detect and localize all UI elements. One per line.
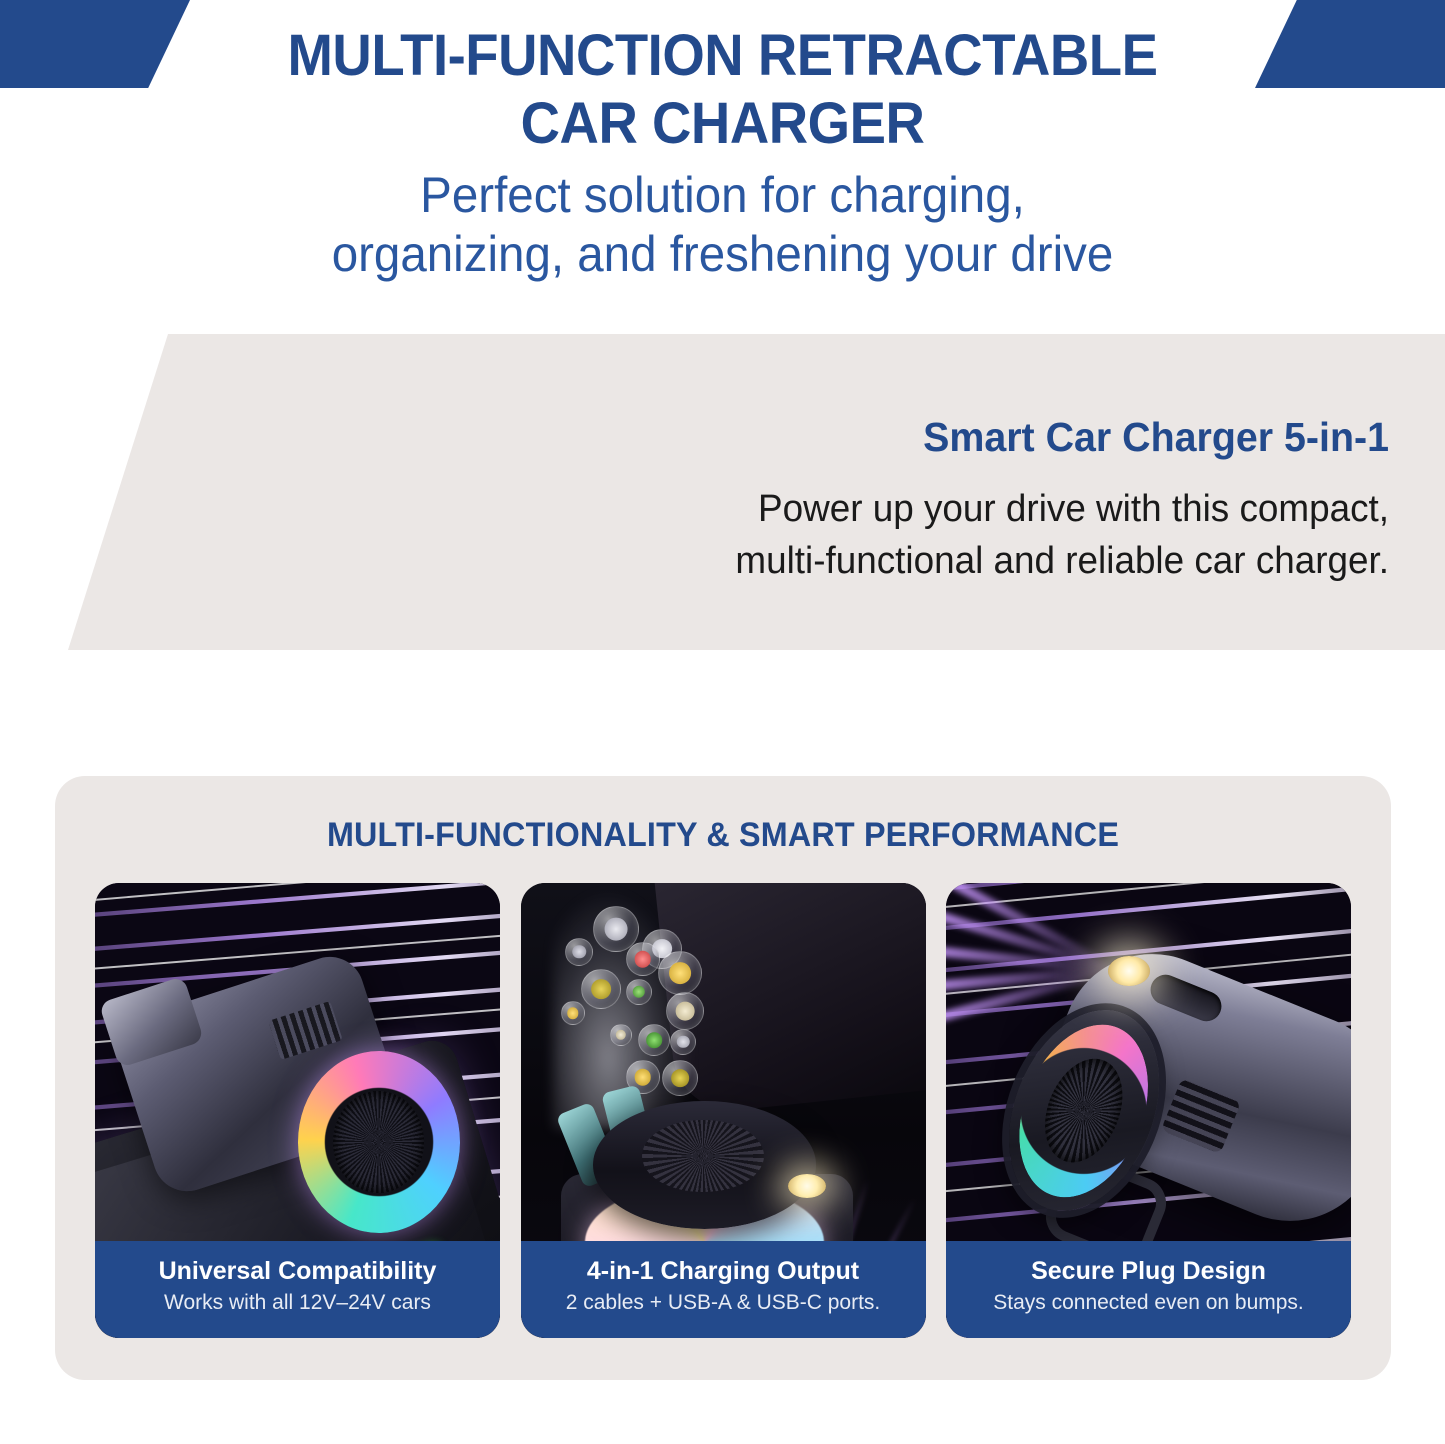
led-lamp-icon	[788, 1174, 826, 1198]
hero-description-line2: multi-functional and reliable car charge…	[623, 535, 1389, 587]
feature-card-list: 14:23 Universal Compatibility Works with…	[95, 883, 1351, 1338]
card-subtitle: Works with all 12V–24V cars	[164, 1289, 431, 1317]
diffuser-fan-icon	[642, 1120, 764, 1193]
page-title-line2: CAR CHARGER	[43, 90, 1401, 158]
feature-card[interactable]: 14:23 Universal Compatibility Works with…	[95, 883, 500, 1338]
aroma-bubble-icon	[626, 942, 660, 976]
card-title: 4-in-1 Charging Output	[587, 1256, 859, 1287]
card-caption: 4-in-1 Charging Output 2 cables + USB-A …	[521, 1241, 926, 1338]
card-title: Secure Plug Design	[1031, 1256, 1266, 1287]
header-banner: MULTI-FUNCTION RETRACTABLE CAR CHARGER P…	[0, 0, 1445, 300]
led-lamp-icon	[1108, 956, 1150, 986]
page-title: MULTI-FUNCTION RETRACTABLE CAR CHARGER	[43, 22, 1401, 158]
card-caption: Universal Compatibility Works with all 1…	[95, 1241, 500, 1338]
card-title: Universal Compatibility	[159, 1256, 437, 1287]
aroma-bubble-icon	[670, 1029, 696, 1055]
card-subtitle: Stays connected even on bumps.	[993, 1289, 1304, 1317]
feature-card[interactable]: Secure Plug Design Stays connected even …	[946, 883, 1351, 1338]
feature-panel: MULTI-FUNCTIONALITY & SMART PERFORMANCE	[55, 776, 1391, 1380]
hero-description-line1: Power up your drive with this compact,	[623, 483, 1389, 535]
feature-panel-title: MULTI-FUNCTIONALITY & SMART PERFORMANCE	[88, 816, 1357, 855]
hero-title: Smart Car Charger 5-in-1	[659, 413, 1389, 461]
card-subtitle: 2 cables + USB-A & USB-C ports.	[566, 1289, 881, 1317]
hero-description: Power up your drive with this compact, m…	[623, 483, 1389, 587]
aroma-bubble-icon	[638, 1024, 670, 1056]
page-subtitle: Perfect solution for charging, organizin…	[36, 166, 1409, 284]
rgb-halo-ring-icon	[298, 1051, 460, 1233]
page-subtitle-line2: organizing, and freshening your drive	[36, 225, 1409, 284]
card-caption: Secure Plug Design Stays connected even …	[946, 1241, 1351, 1338]
aroma-bubble-icon	[610, 1024, 632, 1046]
feature-card[interactable]: 4-in-1 Charging Output 2 cables + USB-A …	[521, 883, 926, 1338]
page-subtitle-line1: Perfect solution for charging,	[36, 166, 1409, 225]
aroma-bubble-icon	[565, 938, 593, 966]
aroma-bubble-icon	[626, 979, 652, 1005]
page-title-line1: MULTI-FUNCTION RETRACTABLE	[43, 22, 1401, 90]
